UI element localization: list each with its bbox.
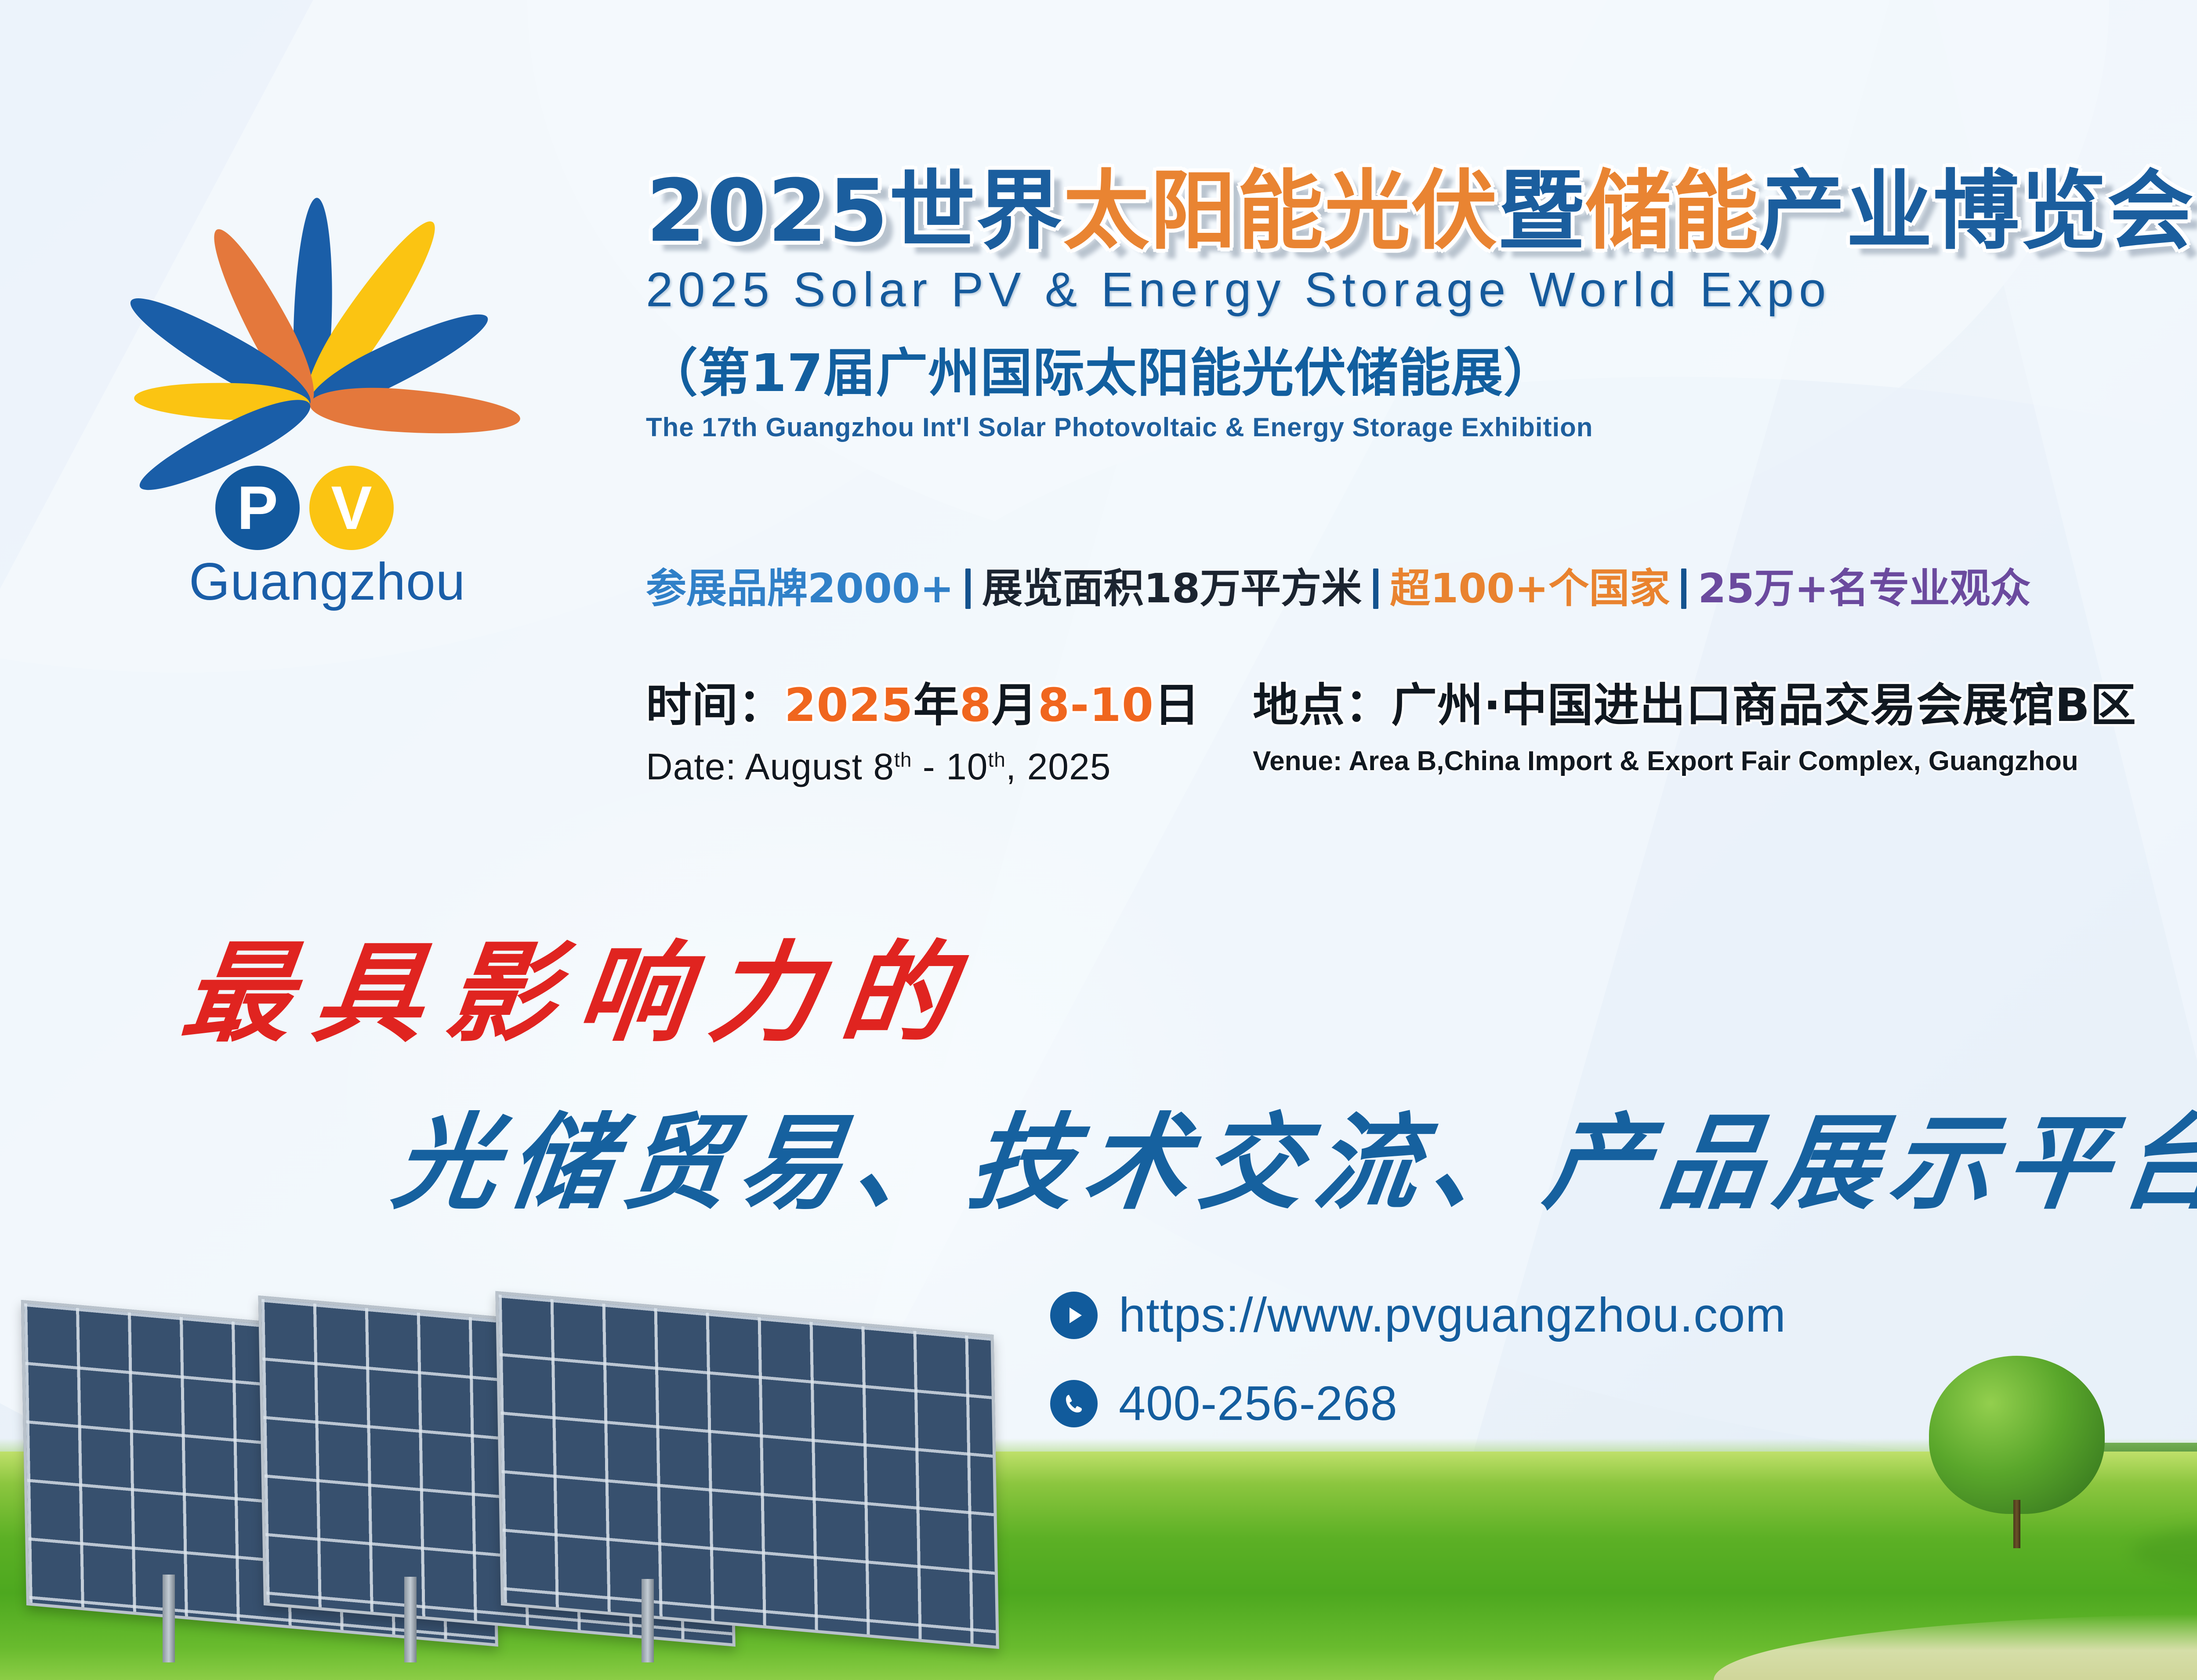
panel-cell-grid [499,1294,996,1645]
slogan-line-1: 最具影响力的 [175,905,985,1063]
slogan-block: 最具影响力的 光储贸易、技术交流、产品展示平台！ [185,905,2197,1229]
venue-text-cn: 广州·中国进出口商品交易会展馆B区 [1391,678,2136,732]
logo-petal-3 [308,383,522,440]
date-year: 2025 [784,678,913,732]
title-segment-2: 暨 [1498,161,1585,261]
date-venue-block: 时间：2025年8月8-10日 Date: August 8th - 10th,… [646,668,2136,788]
date-en-sup2: th [988,748,1006,771]
venue-label-cn: 地点： [1253,678,1391,732]
tree-canopy [1929,1356,2105,1514]
date-day-unit: 日 [1154,678,1200,732]
date-en-sup1: th [894,748,912,771]
stat-item-0: 参展品牌2000+ [646,556,954,614]
stat-separator [1681,568,1686,609]
date-en-mid: - [912,746,946,787]
date-line-en: Date: August 8th - 10th, 2025 [646,746,1200,788]
website-row[interactable]: https://www.pvguangzhou.com [1050,1287,1786,1343]
date-year-unit: 年 [913,678,959,732]
page-title-en: 2025 Solar PV & Energy Storage World Exp… [646,262,2197,318]
stat-separator [965,568,971,609]
stats-row: 参展品牌2000+展览面积18万平方米超100+个国家25万+名专业观众 [646,556,2030,614]
panel-leg [642,1579,654,1662]
date-en-suffix: , 2025 [1006,746,1111,787]
solar-panel [496,1291,999,1649]
website-link[interactable]: https://www.pvguangzhou.com [1119,1287,1786,1343]
subtitle-cn: （第17届广州国际太阳能光伏储能展） [646,331,2197,406]
headline-block: 2025世界太阳能光伏暨储能产业博览会 2025 Solar PV & Ener… [646,167,2197,442]
panel-leg [163,1575,175,1662]
pv-monogram: P V [215,466,394,550]
stat-item-1: 展览面积18万平方米 [982,556,1362,614]
date-month: 8 [959,678,991,732]
title-segment-3: 储能 [1585,161,1759,261]
date-en-prefix: Date: August [646,746,873,787]
venue-column: 地点：广州·中国进出口商品交易会展馆B区 Venue: Area B,China… [1253,668,2136,777]
logo-city-label: Guangzhou [189,551,466,612]
phone-row[interactable]: 400-256-268 [1050,1376,1786,1431]
stat-item-2: 超100+个国家 [1390,556,1670,614]
tree-left [1925,1359,2109,1548]
stat-item-3: 25万+名专业观众 [1698,556,2030,614]
date-column: 时间：2025年8月8-10日 Date: August 8th - 10th,… [646,668,1200,788]
contact-block: https://www.pvguangzhou.com 400-256-268 [1050,1287,1786,1464]
date-line-cn: 时间：2025年8月8-10日 [646,668,1200,734]
date-month-unit: 月 [992,678,1038,732]
tree-trunk [2013,1500,2020,1548]
date-label-cn: 时间： [646,678,784,732]
panel-leg [404,1577,417,1662]
logo-letter-p: P [215,466,300,550]
slogan-line-2: 光储贸易、技术交流、产品展示平台！ [386,1079,2197,1229]
date-en-day2: 10 [946,746,988,787]
telephone-icon [1050,1380,1098,1427]
date-days: 8-10 [1038,678,1154,732]
venue-line-cn: 地点：广州·中国进出口商品交易会展馆B区 [1253,668,2136,734]
pv-guangzhou-logo: P V Guangzhou [53,176,567,633]
title-segment-1: 太阳能光伏 [1063,161,1498,261]
play-triangle-icon [1050,1292,1098,1339]
phone-number[interactable]: 400-256-268 [1119,1376,1398,1431]
poster-stage: P V Guangzhou 2025世界太阳能光伏暨储能产业博览会 2025 S… [0,0,2197,1680]
venue-line-en: Venue: Area B,China Import & Export Fair… [1253,746,2136,777]
logo-letter-v: V [309,466,394,550]
date-en-day1: 8 [873,746,894,787]
subtitle-en: The 17th Guangzhou Int'l Solar Photovolt… [646,412,2197,442]
stat-separator [1373,568,1378,609]
title-segment-0: 2025世界 [646,161,1063,261]
page-title-cn: 2025世界太阳能光伏暨储能产业博览会 [646,167,2197,257]
solar-panel-array [0,1311,1072,1662]
title-segment-4: 产业博览会 [1759,161,2194,261]
